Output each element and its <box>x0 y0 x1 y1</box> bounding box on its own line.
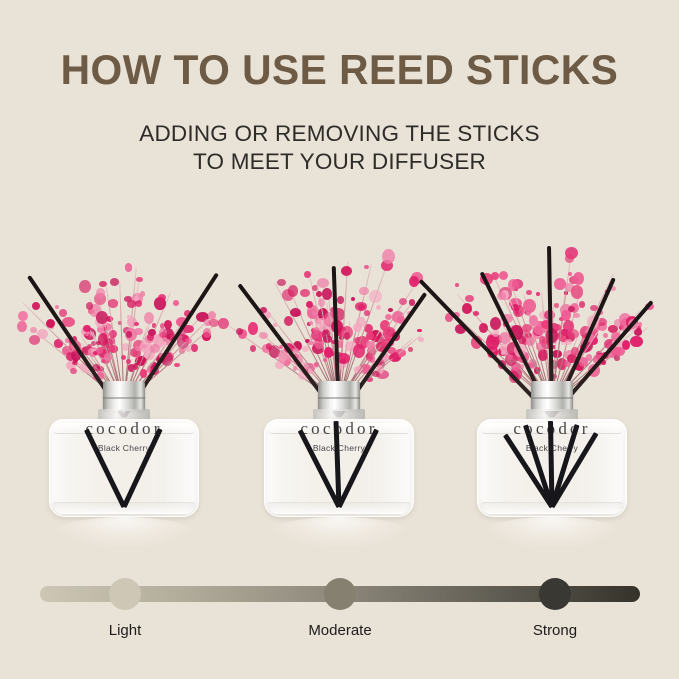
flower-bloom <box>408 347 413 352</box>
flower-bloom <box>465 295 474 303</box>
subtitle-line-2: TO MEET YOUR DIFFUSER <box>0 148 679 176</box>
bottle-cap <box>531 381 573 411</box>
flower-bloom <box>523 299 536 313</box>
flower-bloom <box>136 277 143 283</box>
flower-bloom <box>324 347 333 358</box>
flower-bloom <box>174 363 180 368</box>
flower-bloom <box>508 279 520 290</box>
flower-bloom <box>140 291 146 297</box>
flower-bloom <box>369 290 382 304</box>
scent-label: Black Cherry <box>477 443 627 453</box>
flower-bloom <box>497 292 505 300</box>
product-light: cocodor Black Cherry <box>24 215 224 555</box>
flower-bloom <box>185 338 192 344</box>
flower-bloom <box>55 305 60 309</box>
flower-bloom <box>29 335 40 346</box>
flower-bloom <box>337 353 350 363</box>
flower-bloom <box>323 330 327 335</box>
diffuser-bottle-strong: cocodor Black Cherry <box>477 381 627 521</box>
brand-label: cocodor <box>477 419 627 439</box>
product-strong: cocodor Black Cherry <box>452 215 652 555</box>
diffuser-bottle-light: cocodor Black Cherry <box>49 381 199 521</box>
flower-bloom <box>134 322 139 326</box>
infographic-page: HOW TO USE REED STICKS ADDING OR REMOVIN… <box>0 0 679 679</box>
bottle-cap <box>103 381 145 411</box>
bottle-reflection <box>56 517 192 547</box>
flower-bloom <box>110 278 119 286</box>
flower-bloom <box>603 333 608 338</box>
intensity-slider[interactable]: Light Moderate Strong <box>0 574 679 654</box>
bottle-cap <box>318 381 360 411</box>
flower-bloom <box>382 249 395 264</box>
flower-bloom <box>359 287 368 295</box>
flower-bloom <box>536 292 540 296</box>
flower-bloom <box>630 336 642 347</box>
slider-marker-strong[interactable] <box>539 578 571 610</box>
slider-label-strong: Strong <box>485 622 625 639</box>
flower-bloom <box>364 265 369 269</box>
scent-label: Black Cherry <box>264 443 414 453</box>
flower-bloom <box>108 299 119 307</box>
flower-bloom <box>236 328 243 335</box>
submerged-reed-stick <box>337 429 379 508</box>
flower-bloom <box>85 332 89 336</box>
flower-bloom <box>376 305 382 310</box>
flower-bloom <box>565 254 575 263</box>
flower-bloom <box>32 302 40 310</box>
flower-bloom <box>344 332 350 339</box>
flower-bloom <box>317 278 329 289</box>
flower-bloom <box>554 303 559 308</box>
flower-bloom <box>526 290 533 295</box>
flower-bloom <box>306 301 313 308</box>
flower-bloom <box>70 368 77 374</box>
flower-bloom <box>250 345 256 352</box>
flower-bloom <box>135 300 142 307</box>
flower-bloom <box>364 310 370 315</box>
bottle-reflection <box>271 517 407 547</box>
flower-bloom <box>392 352 399 360</box>
flower-bloom <box>284 316 293 326</box>
product-row: cocodor Black Cherry cocodor Black Cherr… <box>0 215 679 555</box>
flower-bloom <box>248 322 259 334</box>
flower-bloom <box>573 313 579 318</box>
flower-bloom <box>337 296 343 303</box>
flower-bloom <box>351 297 355 301</box>
flower-bloom <box>462 303 473 314</box>
bottle-reflection <box>484 517 620 547</box>
flower-bloom <box>614 347 625 357</box>
flower-bloom <box>473 311 479 316</box>
flower-bloom <box>134 328 143 336</box>
flower-bloom <box>571 285 583 299</box>
flower-bloom <box>96 288 104 298</box>
flower-bloom <box>191 344 197 352</box>
flower-bloom <box>399 298 407 305</box>
flower-bloom <box>455 283 459 287</box>
flower-bloom <box>277 279 286 286</box>
flower-bloom <box>573 272 584 285</box>
flower-bloom <box>353 323 362 332</box>
flower-bloom <box>513 305 523 316</box>
submerged-reed-stick <box>122 428 163 508</box>
flower-bloom <box>173 300 179 306</box>
flower-bloom <box>121 355 126 360</box>
diffuser-bottle-moderate: cocodor Black Cherry <box>264 381 414 521</box>
flower-bloom <box>133 363 138 369</box>
flower-bloom <box>18 311 28 321</box>
flower-bloom <box>127 300 136 308</box>
subtitle-line-1: ADDING OR REMOVING THE STICKS <box>0 120 679 148</box>
flower-bloom <box>79 280 91 293</box>
flower-bloom <box>99 281 106 287</box>
flower-bloom <box>46 319 55 328</box>
flower-bloom <box>288 285 299 297</box>
flower-bloom <box>366 355 374 361</box>
page-subtitle: ADDING OR REMOVING THE STICKS TO MEET YO… <box>0 120 679 175</box>
flower-bloom <box>499 271 508 280</box>
flower-bloom <box>17 321 27 333</box>
flower-bloom <box>579 301 585 307</box>
product-moderate: cocodor Black Cherry <box>239 215 439 555</box>
flower-bloom <box>417 329 421 332</box>
flower-bloom <box>59 309 67 317</box>
flower-bloom <box>341 266 352 276</box>
slider-label-moderate: Moderate <box>270 622 410 639</box>
flower-bloom <box>388 308 393 312</box>
flower-bloom <box>83 325 90 332</box>
flower-bloom <box>300 289 310 297</box>
flower-bloom <box>203 328 211 337</box>
flower-bloom <box>218 318 229 329</box>
flower-bloom <box>479 323 488 333</box>
submerged-reed-stick <box>84 429 126 508</box>
flower-bloom <box>126 331 132 337</box>
flower-bloom <box>366 332 374 340</box>
flower-bloom <box>209 319 219 327</box>
brand-label: cocodor <box>264 419 414 439</box>
flower-bloom <box>109 330 117 338</box>
heading-block: HOW TO USE REED STICKS ADDING OR REMOVIN… <box>0 48 679 175</box>
scent-label: Black Cherry <box>49 443 199 453</box>
flower-bloom <box>490 317 501 330</box>
flower-bloom <box>322 288 333 300</box>
flower-bloom <box>96 311 108 324</box>
flower-bloom <box>491 272 499 280</box>
slider-label-light: Light <box>55 622 195 639</box>
brand-label: cocodor <box>49 419 199 439</box>
slider-marker-moderate[interactable] <box>324 578 356 610</box>
flower-bloom <box>290 308 301 317</box>
slider-marker-light[interactable] <box>109 578 141 610</box>
flower-bloom <box>125 263 133 271</box>
flower-bloom <box>565 339 571 344</box>
flower-bloom <box>409 276 419 288</box>
page-title: HOW TO USE REED STICKS <box>10 48 669 92</box>
